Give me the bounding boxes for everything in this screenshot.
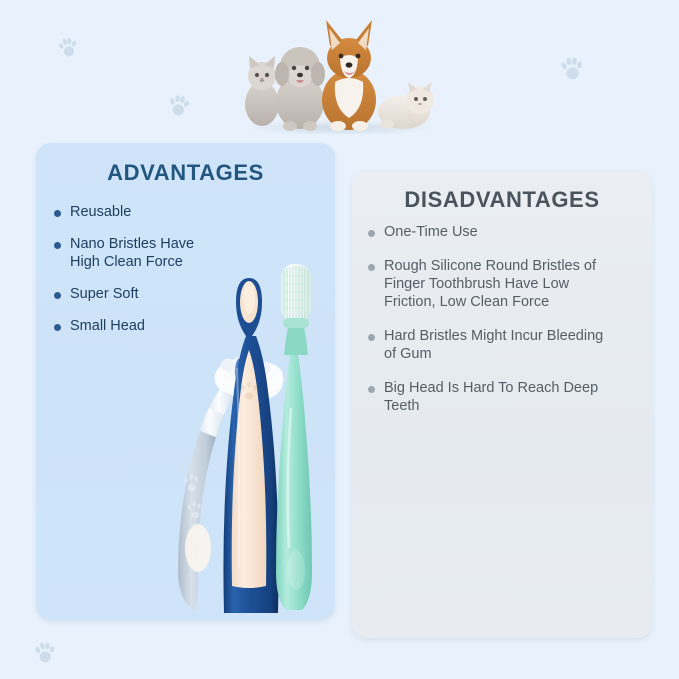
grey-poodle <box>275 47 325 131</box>
bullet-dot-icon <box>54 210 61 217</box>
three-toothbrushes <box>150 218 340 623</box>
bullet-dot-icon <box>54 324 61 331</box>
disadvantages-title: DISADVANTAGES <box>352 187 652 213</box>
advantages-title: ADVANTAGES <box>36 160 335 186</box>
nano-bristle-brush <box>223 278 278 613</box>
list-item-label: Rough Silicone Round Bristles of Finger … <box>384 257 597 311</box>
bullet-dot-icon <box>368 264 375 271</box>
corgi-dog <box>322 20 376 131</box>
paw-print-icon <box>33 639 57 664</box>
bullet-dot-icon <box>368 386 375 393</box>
bullet-dot-icon <box>54 292 61 299</box>
list-item-label: Small Head <box>70 317 145 335</box>
paw-print-icon <box>559 54 586 82</box>
list-item-label: Hard Bristles Might Incur Bleeding of Gu… <box>384 327 606 363</box>
grey-cat <box>245 56 279 126</box>
paw-print-icon <box>166 92 191 119</box>
disadvantages-panel: DISADVANTAGES One-Time Use Rough Silicon… <box>352 171 652 638</box>
infographic-canvas: ADVANTAGES Reusable Nano Bristles Have H… <box>0 0 679 679</box>
list-item-label: Big Head Is Hard To Reach Deep Teeth <box>384 379 602 415</box>
bullet-dot-icon <box>368 230 375 237</box>
list-item: One-Time Use <box>368 223 652 241</box>
finger-style-green-brush <box>276 264 312 610</box>
white-persian-cat <box>378 82 434 129</box>
disadvantages-list: One-Time Use Rough Silicone Round Bristl… <box>352 223 652 431</box>
bullet-dot-icon <box>54 242 61 249</box>
list-item-label: Reusable <box>70 203 131 221</box>
list-item: Rough Silicone Round Bristles of Finger … <box>368 257 652 311</box>
list-item: Big Head Is Hard To Reach Deep Teeth <box>368 379 652 415</box>
paw-print-icon <box>56 34 80 60</box>
list-item-label: Super Soft <box>70 285 139 303</box>
list-item-label: One-Time Use <box>384 223 478 241</box>
list-item: Hard Bristles Might Incur Bleeding of Gu… <box>368 327 652 363</box>
bullet-dot-icon <box>368 334 375 341</box>
pets-group-photo <box>232 8 448 134</box>
